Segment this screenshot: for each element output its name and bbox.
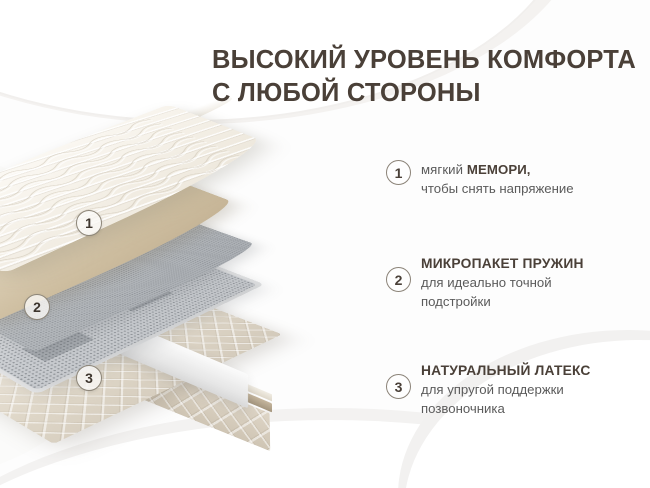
illustration-marker-2: 2 [24, 294, 50, 320]
legend-description-2: для идеально точной подстройки [421, 274, 584, 311]
page-title: ВЫСОКИЙ УРОВЕНЬ КОМФОРТА С ЛЮБОЙ СТОРОНЫ [212, 44, 642, 110]
legend-heading-2: МИКРОПАКЕТ ПРУЖИН [421, 254, 584, 273]
legend-heading-prefix-1: мягкий [421, 162, 467, 177]
legend-badge-3: 3 [386, 374, 411, 399]
legend-item-micropacket-springs: 2 МИКРОПАКЕТ ПРУЖИН для идеально точной … [386, 253, 584, 312]
promo-banner: 1 2 3 ВЫСОКИЙ УРОВЕНЬ КОМФОРТА С ЛЮБОЙ С… [0, 0, 650, 488]
legend-description-3: для упругой поддержки позвоночника [421, 381, 591, 418]
legend-description-1: чтобы снять напряжение [421, 180, 574, 199]
legend-heading-3: НАТУРАЛЬНЫЙ ЛАТЕКС [421, 361, 591, 380]
illustration-marker-3: 3 [76, 365, 102, 391]
legend-text-2: МИКРОПАКЕТ ПРУЖИН для идеально точной по… [421, 253, 584, 312]
legend-heading-keyword-1: МЕМОРИ, [467, 162, 531, 177]
legend-heading-1: мягкий МЕМОРИ, [421, 161, 574, 180]
legend-badge-1: 1 [386, 160, 411, 185]
illustration-marker-1: 1 [76, 210, 102, 236]
legend-badge-2: 2 [386, 267, 411, 292]
legend-text-1: мягкий МЕМОРИ, чтобы снять напряжение [421, 160, 574, 198]
mattress-illustration: 1 2 3 [0, 95, 370, 455]
legend-item-memory-foam: 1 мягкий МЕМОРИ, чтобы снять напряжение [386, 160, 574, 198]
legend-text-3: НАТУРАЛЬНЫЙ ЛАТЕКС для упругой поддержки… [421, 360, 591, 419]
legend-item-natural-latex: 3 НАТУРАЛЬНЫЙ ЛАТЕКС для упругой поддерж… [386, 360, 591, 419]
